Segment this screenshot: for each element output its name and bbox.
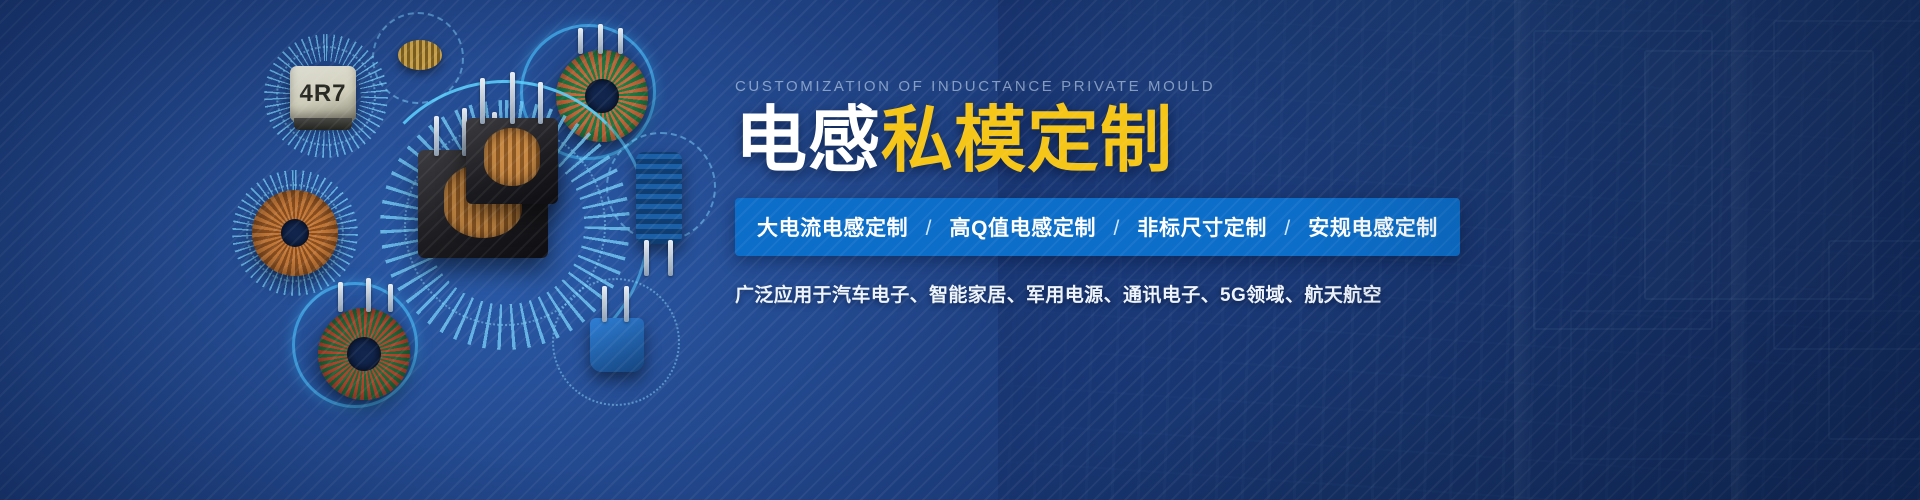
headline-white-part: 电感 — [735, 101, 881, 181]
banner-headline: 电感私模定制 — [735, 105, 1375, 178]
banner-content: CUSTOMIZATION OF INDUCTANCE PRIVATE MOUL… — [735, 78, 1375, 307]
product-copper-toroid — [252, 190, 338, 276]
background-shape — [1514, 0, 1530, 500]
product-blue-capacitor — [590, 318, 644, 372]
product-toroid-bottom — [318, 308, 410, 400]
banner-description: 广泛应用于汽车电子、智能家居、军用电源、通讯电子、5G领域、航天航空 — [735, 280, 1375, 307]
product-rod-coil — [636, 152, 682, 244]
background-shape — [1828, 240, 1920, 440]
product-chip-inductor — [290, 66, 356, 122]
feature-separator: / — [915, 217, 943, 240]
feature-separator: / — [1273, 217, 1301, 240]
feature-item-0: 大电流电感定制 — [757, 217, 908, 240]
feature-separator: / — [1103, 217, 1131, 240]
feature-item-2: 非标尺寸定制 — [1137, 217, 1267, 240]
background-shape — [1731, 0, 1747, 500]
product-wire-inductor — [398, 40, 442, 70]
feature-bar: 大电流电感定制 / 高Q值电感定制 / 非标尺寸定制 / 安规电感定制 — [735, 198, 1460, 256]
banner-eyebrow-english: CUSTOMIZATION OF INDUCTANCE PRIVATE MOUL… — [735, 78, 1375, 95]
hero-banner: CUSTOMIZATION OF INDUCTANCE PRIVATE MOUL… — [0, 0, 1920, 500]
product-common-mode-choke-secondary — [466, 118, 558, 204]
feature-list: 大电流电感定制 / 高Q值电感定制 / 非标尺寸定制 / 安规电感定制 — [757, 212, 1438, 242]
feature-item-3: 安规电感定制 — [1308, 217, 1438, 240]
feature-item-1: 高Q值电感定制 — [950, 217, 1097, 240]
headline-yellow-part: 私模定制 — [881, 101, 1173, 181]
